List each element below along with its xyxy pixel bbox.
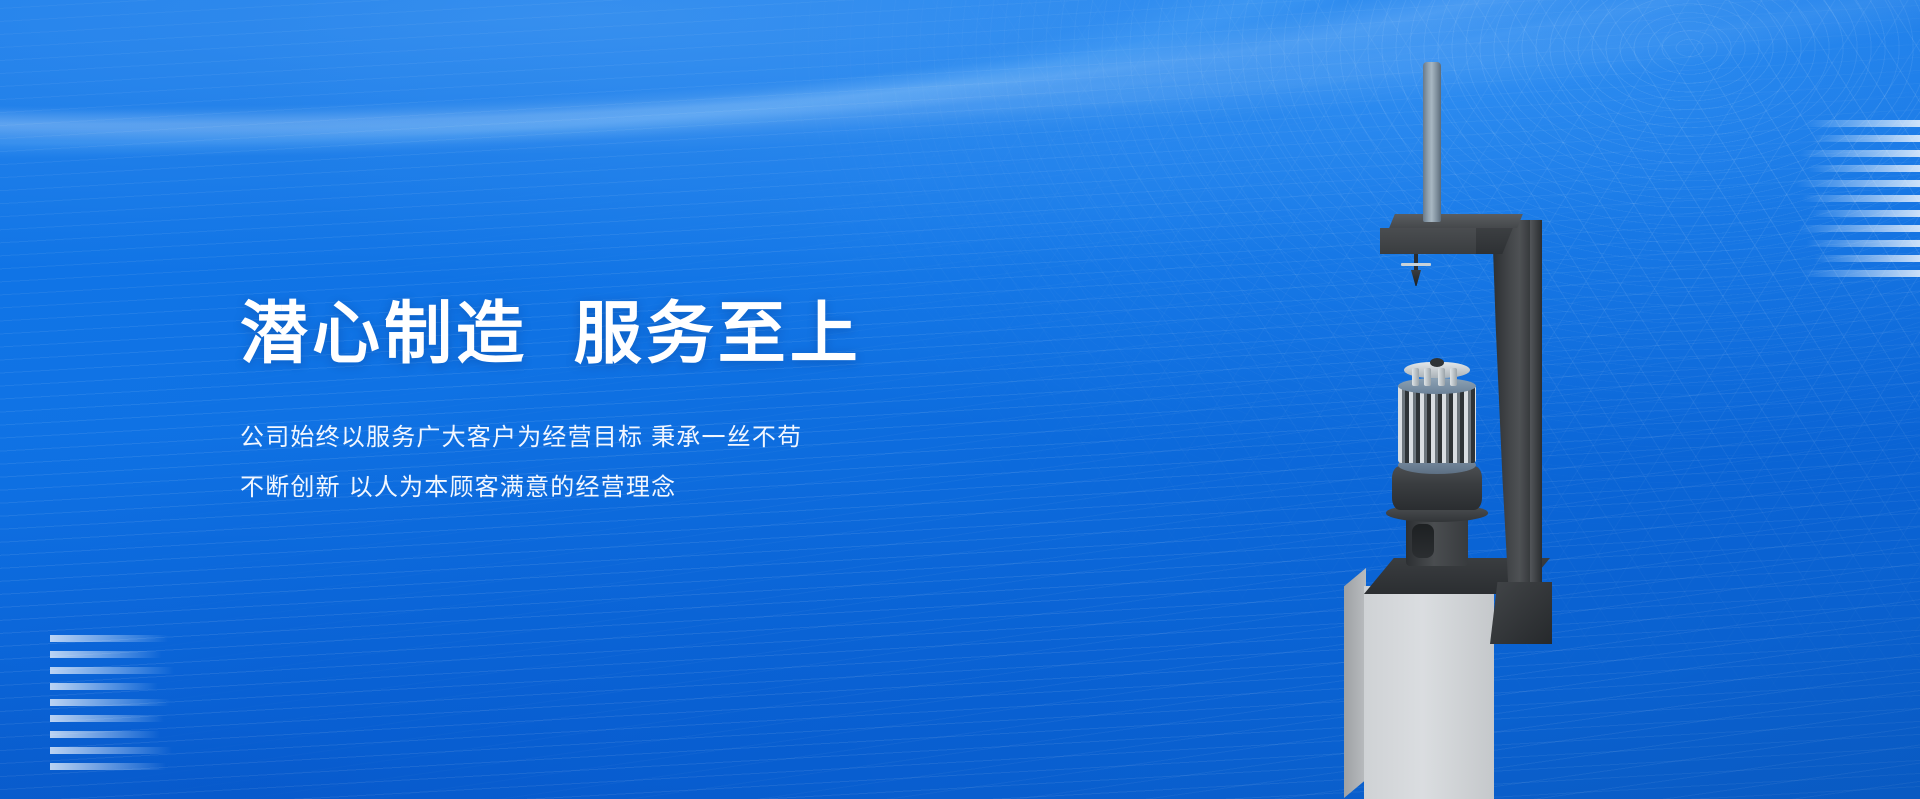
decor-bar-bottom-left [50, 747, 172, 754]
decor-bar-bottom-left [50, 731, 160, 738]
decor-bar-bottom-left [50, 651, 162, 658]
decor-bar-bottom-left [50, 699, 170, 706]
decorative-bars-bottom-left [0, 635, 174, 779]
decor-bar-right [1802, 195, 1920, 202]
decor-bar-right [1804, 120, 1920, 127]
decor-bar-right [1810, 210, 1920, 217]
decor-bar-bottom-left [50, 763, 166, 770]
decor-bar-right [1806, 240, 1920, 247]
rotor-port [1412, 524, 1434, 558]
machine-arm-top [1389, 214, 1523, 228]
machine-arm-face [1380, 228, 1476, 254]
cabinet-side-panel [1344, 568, 1366, 798]
rotor-ring-top [1398, 378, 1476, 394]
cabinet-front-panel [1364, 586, 1494, 799]
decor-bar-right [1802, 270, 1920, 277]
rotor-bolt [1424, 368, 1431, 386]
decor-bar-right [1812, 135, 1920, 142]
rotor-bolt [1450, 368, 1457, 386]
hero-banner: 潜心制造 服务至上 公司始终以服务广大客户为经营目标 秉承一丝不苟 不断创新 以… [0, 0, 1920, 799]
decor-bar-bottom-left [50, 667, 174, 674]
spindle-crossbar [1401, 263, 1431, 266]
machine-column-foot [1490, 582, 1552, 644]
decor-bar-right [1796, 180, 1920, 187]
hero-headline: 潜心制造 服务至上 [240, 300, 862, 368]
hero-text-block: 潜心制造 服务至上 公司始终以服务广大客户为经营目标 秉承一丝不苟 不断创新 以… [240, 300, 862, 500]
rotor-bolt [1438, 368, 1445, 386]
decorative-bars-right [1796, 120, 1920, 285]
rotor-knob [1430, 358, 1444, 367]
decor-bar-bottom-left [50, 683, 158, 690]
decor-bar-right [1814, 255, 1920, 262]
decor-bar-bottom-left [50, 635, 168, 642]
machine-column-edge [1530, 220, 1542, 640]
subtitle-line-2: 不断创新 以人为本顾客满意的经营理念 [240, 476, 862, 500]
hero-subtitle: 公司始终以服务广大客户为经营目标 秉承一丝不苟 不断创新 以人为本顾客满意的经营… [240, 426, 862, 500]
spindle-tip [1411, 270, 1421, 286]
decor-bar-right [1800, 150, 1920, 157]
machine-vertical-rod [1423, 62, 1441, 222]
product-machine-illustration [1344, 62, 1574, 782]
decor-bar-right [1808, 165, 1920, 172]
rotor-bolt [1412, 368, 1419, 386]
rotor-fin-cage [1398, 385, 1476, 463]
decor-bar-bottom-left [50, 715, 164, 722]
subtitle-line-1: 公司始终以服务广大客户为经营目标 秉承一丝不苟 [240, 426, 862, 450]
decor-bar-right [1798, 225, 1920, 232]
